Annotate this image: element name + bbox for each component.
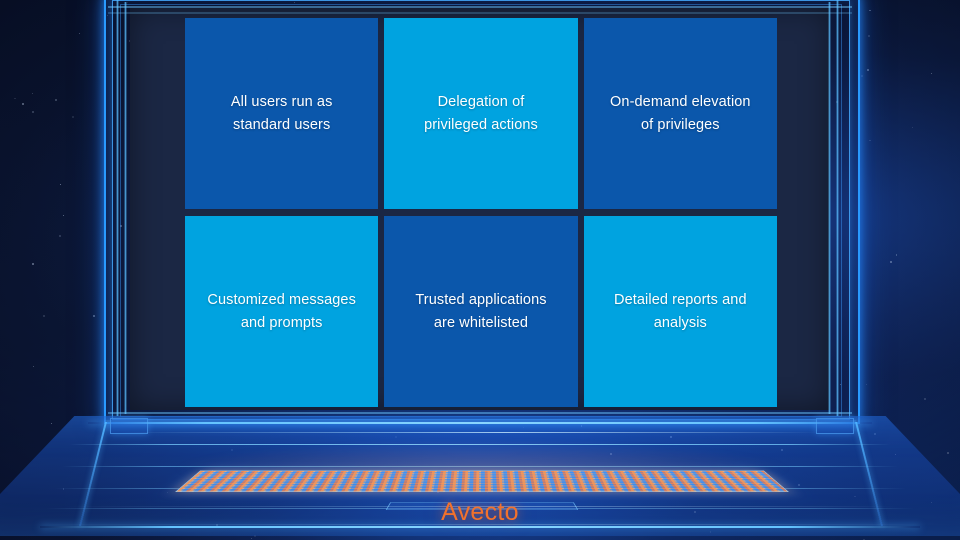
feature-tile[interactable]: On-demand elevation of privileges [584,18,777,209]
feature-tile-line-1: Trusted applications [415,289,546,311]
bezel-rail-right-a [836,0,839,416]
feature-tile-line-1: All users run as [231,91,333,113]
feature-tile[interactable]: Delegation of privileged actions [384,18,577,209]
slide-canvas: All users run as standard users Delegati… [0,0,960,540]
feature-tile[interactable]: Trusted applications are whitelisted [384,216,577,407]
feature-tile-line-2: are whitelisted [415,312,546,334]
feature-tile-line-2: privileged actions [424,114,538,136]
wireframe-keyboard [175,471,789,492]
bezel-rail-top [108,6,852,8]
bezel-rail-right-b [828,2,831,414]
feature-tile-line-1: Delegation of [424,91,538,113]
feature-tile[interactable]: All users run as standard users [185,18,378,209]
feature-tile-line-2: analysis [614,312,747,334]
feature-tile-line-1: Customized messages [207,289,356,311]
feature-tile-line-2: of privileges [610,114,751,136]
feature-tile-line-1: Detailed reports and [614,289,747,311]
light-streak-1 [120,432,820,433]
deck-edge-top [88,422,872,424]
feature-tile-line-2: and prompts [207,312,356,334]
bezel-rail-top-secondary [108,12,852,14]
feature-tile-line-1: On-demand elevation [610,91,751,113]
bezel-rail-left-b [124,2,127,414]
feature-tile[interactable]: Detailed reports and analysis [584,216,777,407]
feature-tile-line-2: standard users [231,114,333,136]
bezel-rail-left-a [116,0,119,416]
brand-wordmark: Avecto [0,498,960,527]
feature-tile-grid: All users run as standard users Delegati… [185,18,777,407]
feature-tile[interactable]: Customized messages and prompts [185,216,378,407]
